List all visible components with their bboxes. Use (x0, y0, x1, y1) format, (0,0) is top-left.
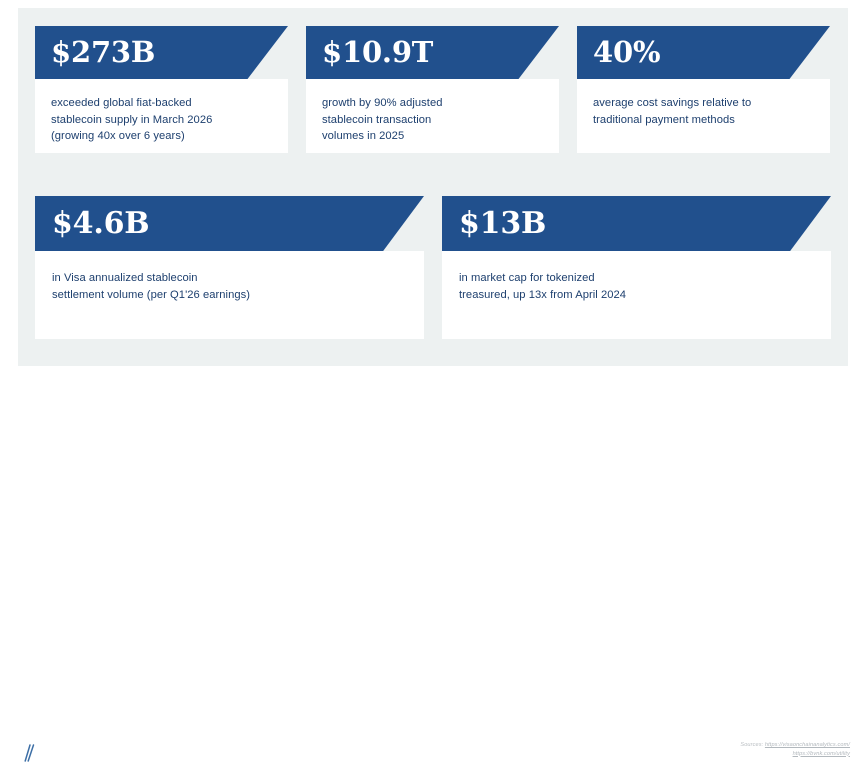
stat-description-13b: in market cap for tokenized treasured, u… (442, 251, 831, 303)
stat-body-40pct: average cost savings relative to traditi… (577, 79, 830, 153)
stat-header-40pct: 40% (577, 26, 830, 79)
stat-description-40pct: average cost savings relative to traditi… (577, 79, 830, 128)
stat-body-273b: exceeded global fiat-backed stablecoin s… (35, 79, 288, 153)
stat-description-109t: growth by 90% adjusted stablecoin transa… (306, 79, 559, 145)
source-link-1[interactable]: https://visaonchainanalytics.com/ (765, 742, 850, 748)
slide-footer: Sources: https://visaonchainanalytics.co… (0, 366, 866, 404)
sources-note: Sources: https://visaonchainanalytics.co… (740, 741, 850, 758)
stat-body-109t: growth by 90% adjusted stablecoin transa… (306, 79, 559, 153)
stat-header-273b: $273B (35, 26, 288, 79)
stat-header-109t: $10.9T (306, 26, 559, 79)
stat-value-13b: $13B (459, 209, 546, 239)
stat-value-109t: $10.9T (322, 38, 433, 67)
sources-line-1: Sources: https://visaonchainanalytics.co… (740, 741, 850, 750)
stat-body-13b: in market cap for tokenized treasured, u… (442, 251, 831, 339)
stat-card-46b: $4.6B in Visa annualized stablecoin sett… (35, 196, 424, 339)
stat-value-46b: $4.6B (52, 209, 149, 239)
stat-card-273b: $273B exceeded global fiat-backed stable… (35, 26, 288, 153)
stat-header-46b: $4.6B (35, 196, 424, 251)
stat-header-13b: $13B (442, 196, 831, 251)
stat-card-40pct: 40% average cost savings relative to tra… (577, 26, 830, 153)
stat-value-40pct: 40% (593, 38, 660, 67)
slash-mark-logo-icon (24, 744, 46, 762)
stat-row-top: $273B exceeded global fiat-backed stable… (35, 26, 831, 153)
stat-description-46b: in Visa annualized stablecoin settlement… (35, 251, 424, 303)
source-link-2[interactable]: https://bvnk.com/utility (793, 751, 850, 757)
stat-value-273b: $273B (51, 38, 155, 67)
stat-row-bottom: $4.6B in Visa annualized stablecoin sett… (35, 196, 831, 339)
stat-card-109t: $10.9T growth by 90% adjusted stablecoin… (306, 26, 559, 153)
sources-label: Sources: (740, 742, 763, 748)
stat-description-273b: exceeded global fiat-backed stablecoin s… (35, 79, 288, 145)
slide-canvas: $273B exceeded global fiat-backed stable… (0, 0, 866, 404)
stat-card-13b: $13B in market cap for tokenized treasur… (442, 196, 831, 339)
stat-body-46b: in Visa annualized stablecoin settlement… (35, 251, 424, 339)
sources-line-2: https://bvnk.com/utility (740, 750, 850, 759)
